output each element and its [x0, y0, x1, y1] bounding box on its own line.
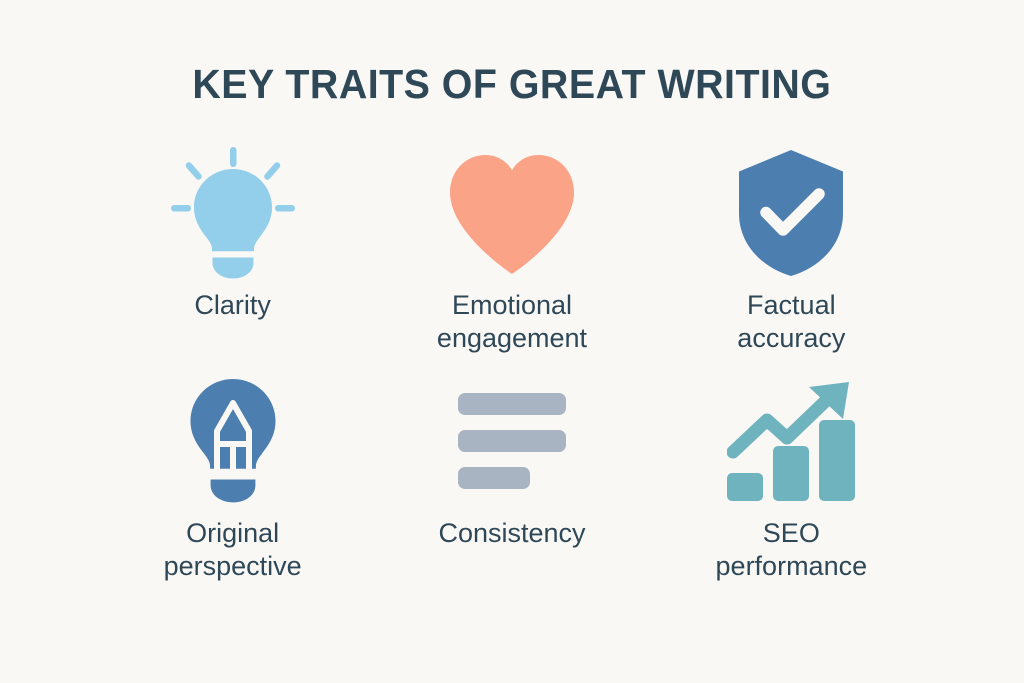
- trait-label-line2: accuracy: [737, 322, 845, 355]
- trait-label-line1: Factual: [747, 290, 836, 320]
- trait-label-line2: performance: [716, 550, 868, 583]
- trait-label-seo-performance: SEO performance: [716, 517, 868, 583]
- trait-card-factual-accuracy: Factual accuracy: [656, 147, 927, 371]
- trait-icon-slot: [181, 375, 285, 507]
- trait-card-seo-performance: SEO performance: [656, 375, 927, 599]
- trait-label-line2: engagement: [437, 322, 587, 355]
- shield-check-icon: [735, 149, 847, 277]
- trait-card-clarity: Clarity: [97, 147, 368, 371]
- heart-icon: [446, 151, 578, 275]
- growth-chart-icon: [727, 380, 855, 502]
- trait-label-line1: Original: [186, 518, 279, 548]
- trait-label-line1: Emotional: [452, 290, 572, 320]
- trait-label-line1: Consistency: [438, 518, 585, 548]
- trait-label-clarity: Clarity: [194, 289, 271, 322]
- trait-label-line1: SEO: [763, 518, 820, 548]
- trait-label-line2: perspective: [164, 550, 302, 583]
- traits-grid: Clarity Emotional engagement: [97, 147, 927, 599]
- trait-card-emotional-engagement: Emotional engagement: [376, 147, 647, 371]
- trait-icon-slot: [446, 147, 578, 279]
- trait-label-factual-accuracy: Factual accuracy: [737, 289, 845, 355]
- trait-card-original-perspective: Original perspective: [97, 375, 368, 599]
- trait-icon-slot: [735, 147, 847, 279]
- trait-card-consistency: Consistency: [376, 375, 647, 599]
- lightbulb-icon: [171, 147, 295, 279]
- page-title: KEY TRAITS OF GREAT WRITING: [192, 62, 831, 107]
- list-bars-icon: [458, 391, 566, 491]
- infographic-poster: KEY TRAITS OF GREAT WRITING: [0, 0, 1024, 683]
- trait-icon-slot: [727, 375, 855, 507]
- trait-label-emotional-engagement: Emotional engagement: [437, 289, 587, 355]
- trait-label-original-perspective: Original perspective: [164, 517, 302, 583]
- lightbulb-pencil-icon: [181, 378, 285, 504]
- trait-label-consistency: Consistency: [438, 517, 585, 550]
- trait-icon-slot: [458, 375, 566, 507]
- trait-icon-slot: [171, 147, 295, 279]
- trait-label-line1: Clarity: [194, 290, 271, 320]
